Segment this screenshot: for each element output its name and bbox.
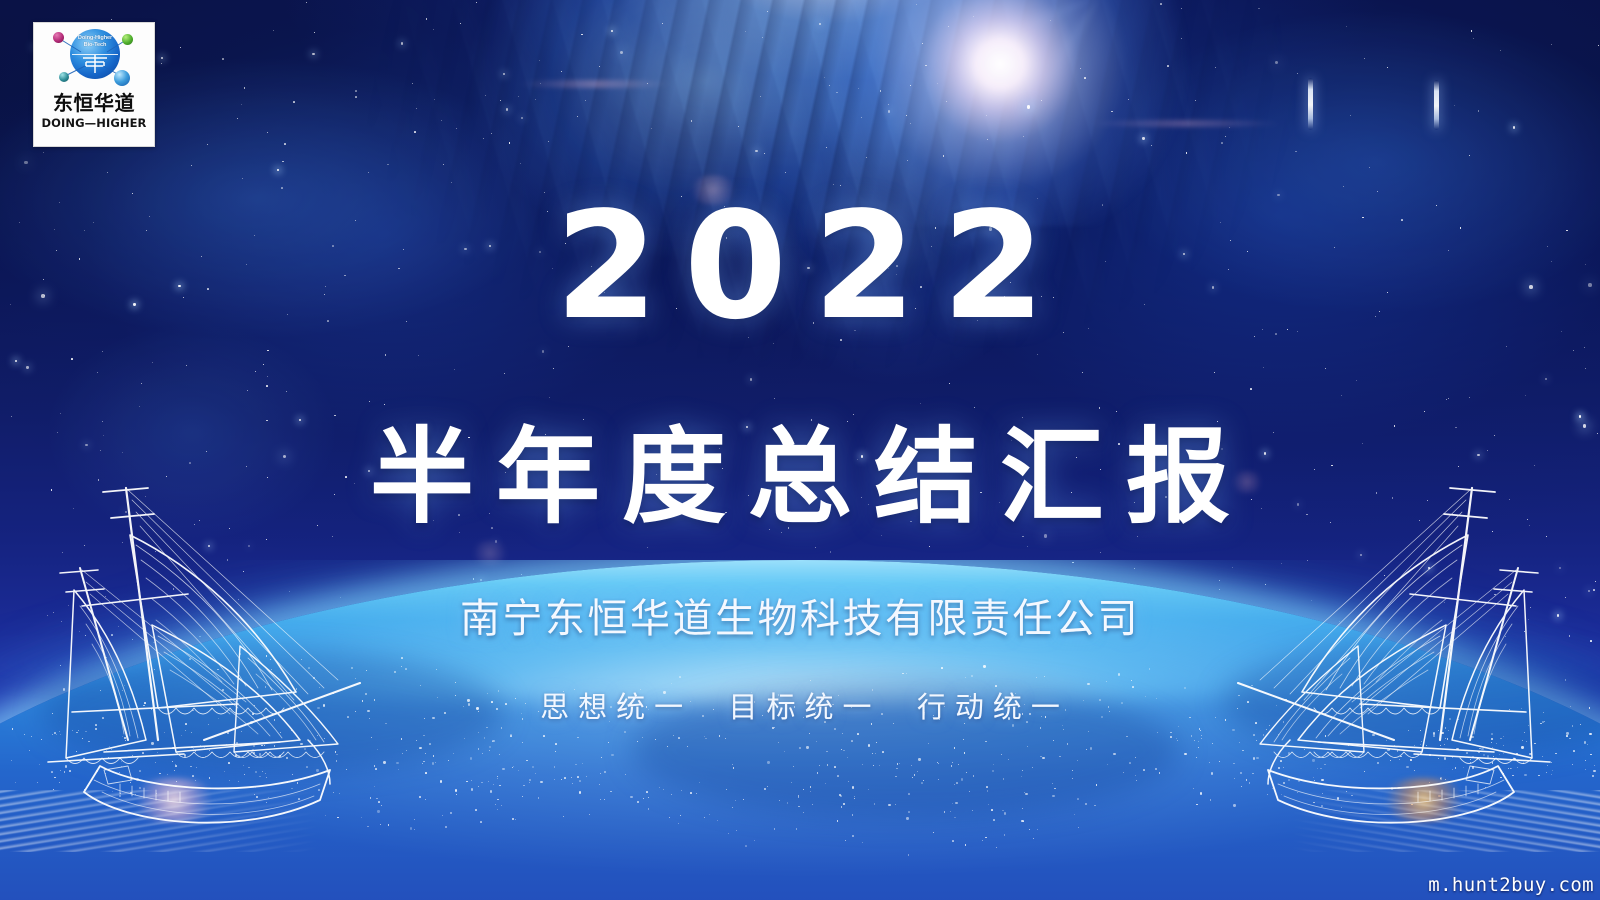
presentation-cover-slide: Doing-Higher Bio-Tech [0,0,1600,900]
molecule-node-teal [59,72,69,82]
slogan-text: 思想统一 目标统一 行动统一 [0,690,1600,725]
logo-english-name: DOING—HIGHER [41,116,146,130]
year-heading: 2022 [0,192,1600,340]
page-title: 半年度总结汇报 [0,420,1600,534]
watermark: m.hunt2buy.com [1428,874,1594,896]
logo-chinese-name: 东恒华道 [53,93,135,114]
company-name: 南宁东恒华道生物科技有限责任公司 [0,595,1600,643]
molecule-node-blue [114,70,130,86]
logo-mark-icon: Doing-Higher Bio-Tech [51,26,137,92]
light-streak-icon [1434,80,1439,130]
light-streak-icon [1308,78,1313,130]
molecule-node-green [122,34,133,45]
molecule-node-magenta [53,32,64,43]
company-logo: Doing-Higher Bio-Tech [33,22,155,147]
